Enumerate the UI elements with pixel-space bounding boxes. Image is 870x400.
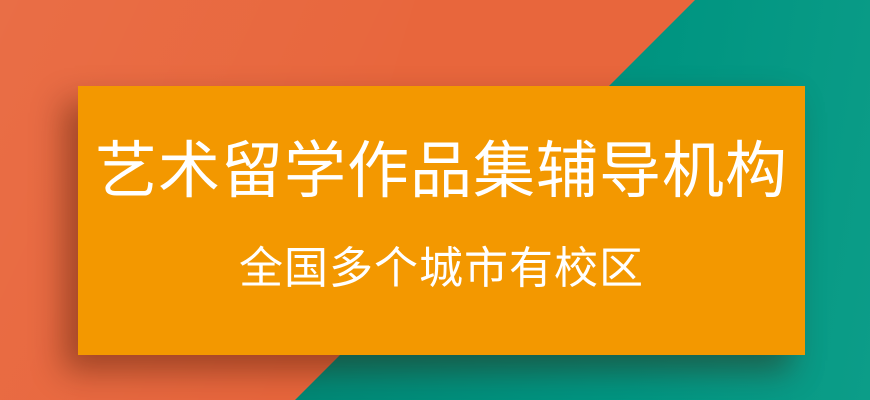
promo-banner: 艺术留学作品集辅导机构 全国多个城市有校区 [0,0,870,400]
banner-subtitle: 全国多个城市有校区 [239,246,644,292]
banner-title: 艺术留学作品集辅导机构 [95,139,788,204]
headline-card: 艺术留学作品集辅导机构 全国多个城市有校区 [78,86,805,355]
